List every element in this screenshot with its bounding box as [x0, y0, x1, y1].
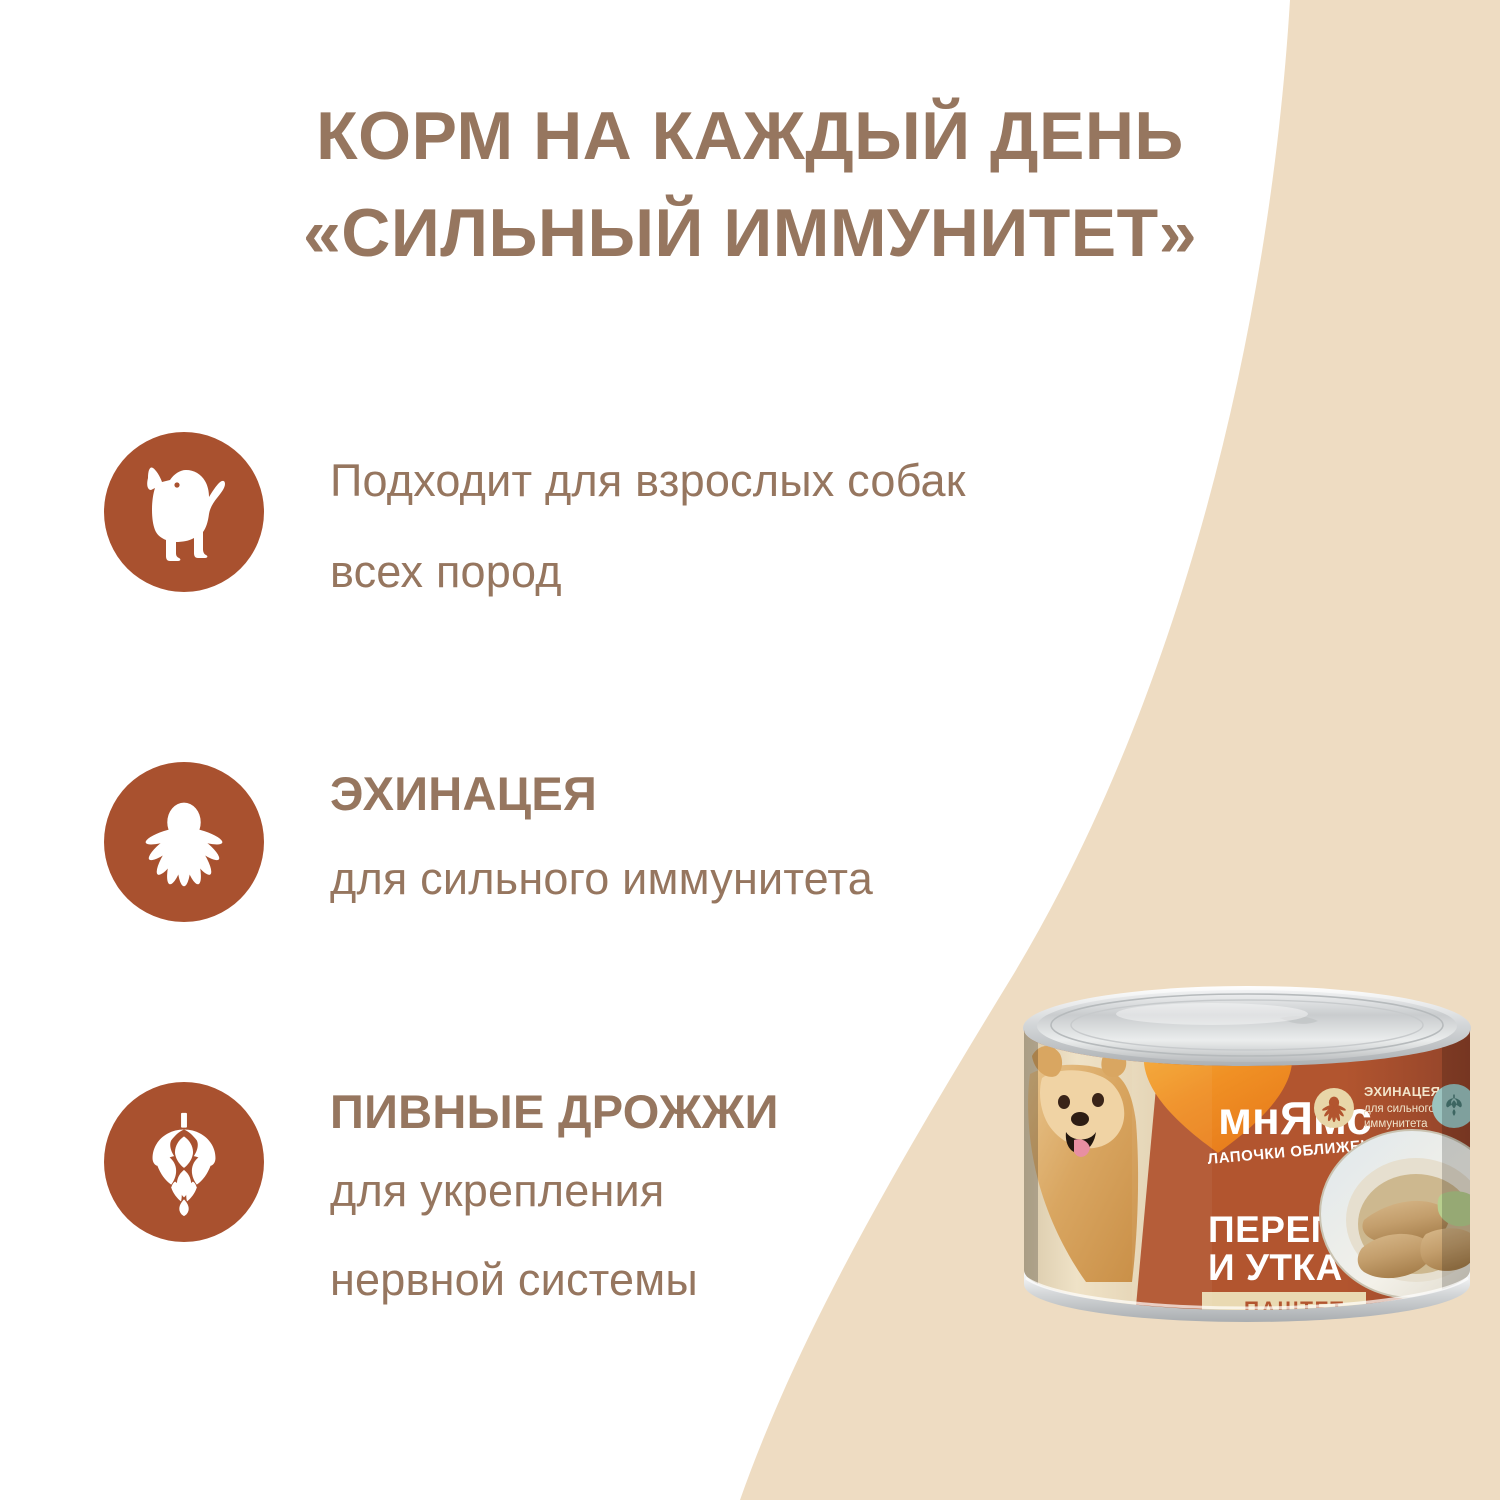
feature-title-3: ПИВНЫЕ ДРОЖЖИ	[330, 1082, 779, 1142]
feature-body-1-line-1: Подходит для взрослых собак	[330, 448, 966, 513]
product-can-image: мнЯмс ЛАПОЧКИ ОБЛИЖЕШЬ!	[1012, 982, 1482, 1334]
feature-icon-badge-2	[104, 762, 264, 922]
can-body: мнЯмс ЛАПОЧКИ ОБЛИЖЕШЬ!	[1012, 1022, 1482, 1332]
feature-icon-badge-1	[104, 432, 264, 592]
product-infographic-poster: КОРМ НА КАЖДЫЙ ДЕНЬ «СИЛЬНЫЙ ИММУНИТЕТ» …	[0, 0, 1500, 1500]
page-title: КОРМ НА КАЖДЫЙ ДЕНЬ «СИЛЬНЫЙ ИММУНИТЕТ»	[0, 88, 1500, 281]
can-illustration: мнЯмс ЛАПОЧКИ ОБЛИЖЕШЬ!	[1012, 982, 1482, 1334]
feature-item-brewers-yeast: ПИВНЫЕ ДРОЖЖИ для укрепления нервной сис…	[104, 1082, 779, 1313]
can-badge-title: ЭХИНАЦЕЯ	[1364, 1084, 1440, 1099]
feature-body-2-line-1: для сильного иммунитета	[330, 846, 873, 911]
feature-icon-badge-3	[104, 1082, 264, 1242]
feature-item-echinacea: ЭХИНАЦЕЯ для сильного иммунитета	[104, 762, 873, 922]
feature-text-2: ЭХИНАЦЕЯ для сильного иммунитета	[330, 762, 873, 911]
feature-body-1-line-2: всех пород	[330, 539, 966, 604]
feature-body-3-line-2: нервной системы	[330, 1247, 779, 1312]
feature-item-breeds: Подходит для взрослых собак всех пород	[104, 432, 966, 605]
feature-text-3: ПИВНЫЕ ДРОЖЖИ для укрепления нервной сис…	[330, 1082, 779, 1313]
page-title-line-2: «СИЛЬНЫЙ ИММУНИТЕТ»	[0, 185, 1500, 282]
feature-title-2: ЭХИНАЦЕЯ	[330, 764, 873, 824]
feature-body-3-line-1: для укрепления	[330, 1158, 779, 1223]
dog-icon	[124, 452, 244, 572]
can-flavour-line-2: И УТКА	[1208, 1247, 1343, 1288]
feature-text-1: Подходит для взрослых собак всех пород	[330, 432, 966, 605]
can-badge-line-1: для сильного	[1364, 1103, 1435, 1115]
page-title-line-1: КОРМ НА КАЖДЫЙ ДЕНЬ	[0, 88, 1500, 185]
echinacea-flower-icon	[125, 783, 243, 901]
can-badge-line-2: иммунитета	[1364, 1118, 1428, 1130]
hop-cone-icon	[125, 1103, 243, 1221]
